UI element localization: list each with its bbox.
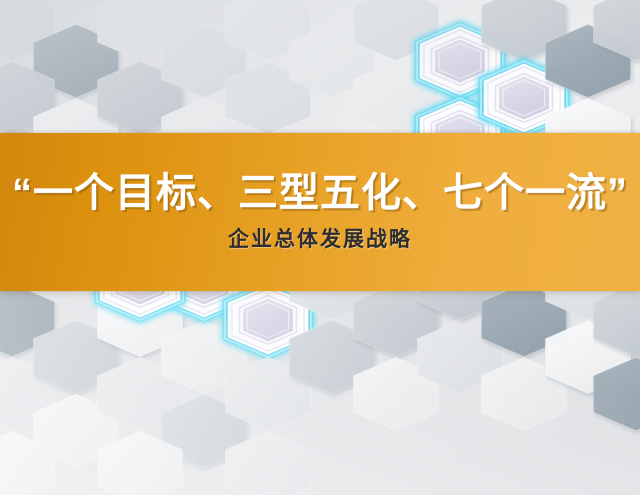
slide-canvas: “一个目标、三型五化、七个一流” 企业总体发展战略 — [0, 0, 640, 495]
banner-subtitle: 企业总体发展战略 — [228, 228, 412, 251]
title-banner: “一个目标、三型五化、七个一流” 企业总体发展战略 — [0, 133, 640, 291]
banner-title: “一个目标、三型五化、七个一流” — [12, 172, 628, 214]
